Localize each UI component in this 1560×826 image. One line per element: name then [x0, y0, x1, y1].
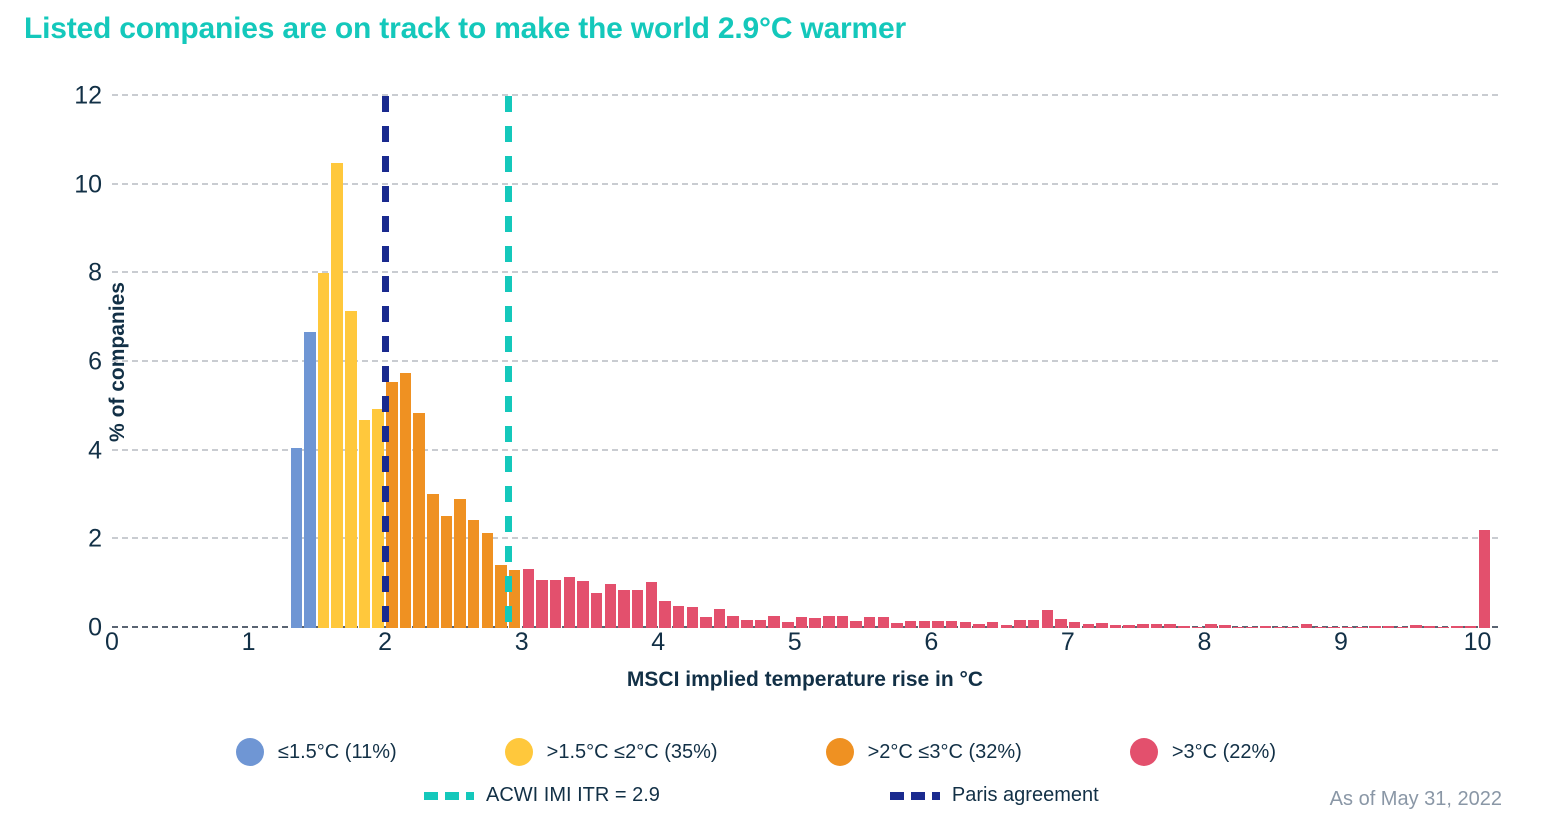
legend-item-label: >2°C ≤3°C (32%) — [868, 741, 1022, 764]
x-axis-tick-label: 5 — [788, 628, 802, 657]
x-axis-ticks: 012345678910 — [112, 628, 1498, 672]
x-axis-tick-label: 2 — [378, 628, 392, 657]
histogram-bar — [468, 520, 479, 628]
histogram-bar — [304, 332, 315, 628]
chart-plot-area: % of companies 024681012 — [112, 96, 1498, 628]
histogram-bar — [1479, 530, 1490, 628]
legend-item-label: >3°C (22%) — [1172, 741, 1276, 764]
legend-dashed-line-icon — [890, 792, 940, 800]
histogram-bar — [905, 621, 916, 628]
x-axis-tick-label: 6 — [924, 628, 938, 657]
legend-reference-lines: ACWI IMI ITR = 2.9Paris agreement — [424, 784, 1224, 807]
histogram-bar — [454, 499, 465, 628]
histogram-bar — [291, 448, 302, 628]
histogram-bar — [413, 413, 424, 628]
y-axis-tick-label: 4 — [54, 436, 102, 465]
histogram-bar — [591, 593, 602, 628]
histogram-bar — [523, 569, 534, 628]
histogram-bar — [564, 577, 575, 628]
histogram-bar — [577, 581, 588, 628]
histogram-bar — [700, 617, 711, 628]
histogram-bar — [823, 616, 834, 628]
histogram-bar — [687, 607, 698, 628]
histogram-bar — [482, 533, 493, 628]
histogram-bar — [850, 621, 861, 628]
legend-dashed-line-icon — [424, 792, 474, 800]
bars-layer — [112, 96, 1498, 628]
legend-swatch-icon — [236, 738, 264, 766]
page-title: Listed companies are on track to make th… — [24, 12, 906, 46]
legend-item-label: ≤1.5°C (11%) — [278, 741, 397, 764]
histogram-bar — [1014, 620, 1025, 628]
histogram-bar — [632, 590, 643, 628]
histogram-bar — [550, 580, 561, 628]
histogram-bar — [768, 616, 779, 628]
x-axis-tick-label: 3 — [515, 628, 529, 657]
histogram-bar — [345, 311, 356, 628]
reference-line-dash — [505, 96, 512, 628]
histogram-bar — [1028, 620, 1039, 628]
x-axis-tick-label: 1 — [242, 628, 256, 657]
histogram-bar — [837, 616, 848, 628]
as-of-note: As of May 31, 2022 — [1330, 788, 1502, 811]
legend-swatch-icon — [826, 738, 854, 766]
histogram-bar — [605, 584, 616, 628]
legend-series: ≤1.5°C (11%)>1.5°C ≤2°C (35%)>2°C ≤3°C (… — [236, 738, 1376, 766]
reference-line-acwi-imi-itr — [505, 96, 512, 628]
histogram-bar — [400, 373, 411, 628]
histogram-bar — [932, 621, 943, 628]
legend-item-yellow[interactable]: >1.5°C ≤2°C (35%) — [505, 738, 718, 766]
legend-swatch-icon — [505, 738, 533, 766]
y-axis-tick-label: 10 — [54, 170, 102, 199]
histogram-bar — [714, 609, 725, 628]
histogram-bar — [646, 582, 657, 628]
legend-item-label: ACWI IMI ITR = 2.9 — [486, 784, 660, 807]
histogram-bar — [659, 601, 670, 628]
legend-item-paris[interactable]: Paris agreement — [890, 784, 1099, 807]
y-axis-tick-label: 8 — [54, 259, 102, 288]
x-axis-tick-label: 4 — [651, 628, 665, 657]
legend-item-acwi[interactable]: ACWI IMI ITR = 2.9 — [424, 784, 660, 807]
x-axis-tick-label: 9 — [1334, 628, 1348, 657]
histogram-bar — [441, 516, 452, 628]
x-axis-label: MSCI implied temperature rise in °C — [112, 668, 1498, 692]
histogram-bar — [864, 617, 875, 628]
legend-item-label: Paris agreement — [952, 784, 1099, 807]
histogram-bar — [878, 617, 889, 628]
histogram-bar — [1055, 619, 1066, 628]
legend-item-blue[interactable]: ≤1.5°C (11%) — [236, 738, 397, 766]
histogram-bar — [318, 273, 329, 628]
histogram-bar — [427, 494, 438, 628]
reference-line-paris-agreement — [382, 96, 389, 628]
x-axis-tick-label: 8 — [1197, 628, 1211, 657]
legend-item-label: >1.5°C ≤2°C (35%) — [547, 741, 718, 764]
histogram-bar — [618, 590, 629, 628]
x-axis-tick-label: 7 — [1061, 628, 1075, 657]
x-axis-tick-label: 0 — [105, 628, 119, 657]
histogram-bar — [755, 620, 766, 628]
histogram-bar — [536, 580, 547, 628]
legend-swatch-icon — [1130, 738, 1158, 766]
histogram-bar — [946, 621, 957, 628]
y-axis-tick-label: 2 — [54, 525, 102, 554]
histogram-bar — [809, 618, 820, 628]
histogram-bar — [741, 620, 752, 628]
histogram-bar — [673, 606, 684, 628]
y-axis-tick-label: 12 — [54, 82, 102, 111]
reference-line-dash — [382, 96, 389, 628]
x-axis-tick-label: 10 — [1464, 628, 1492, 657]
legend-item-orange[interactable]: >2°C ≤3°C (32%) — [826, 738, 1022, 766]
histogram-bar — [727, 616, 738, 628]
histogram-bar — [331, 163, 342, 629]
legend-item-pink[interactable]: >3°C (22%) — [1130, 738, 1276, 766]
histogram-bar — [796, 617, 807, 628]
histogram-bar — [359, 420, 370, 628]
histogram-bar — [1042, 610, 1053, 628]
y-axis-tick-label: 6 — [54, 348, 102, 377]
y-axis-tick-label: 0 — [54, 614, 102, 643]
histogram-bar — [919, 621, 930, 628]
